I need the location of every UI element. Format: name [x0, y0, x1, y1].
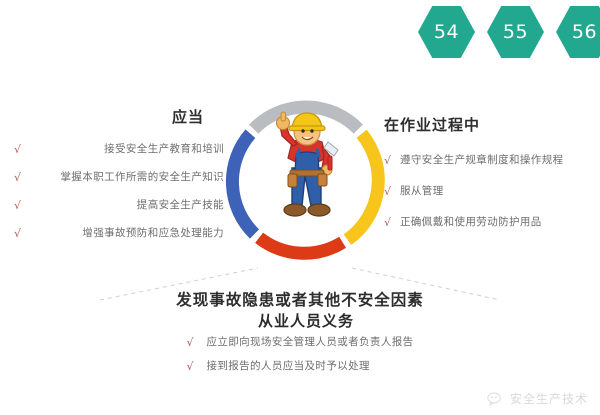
- page-badge-number: 55: [503, 21, 528, 43]
- list-item-label: 正确佩戴和使用劳动防护用品: [400, 217, 542, 228]
- page-badge-54[interactable]: 54: [418, 6, 475, 58]
- watermark-text: 安全生产技术: [510, 390, 588, 407]
- list-item-label: 接受安全生产教育和培训: [28, 144, 228, 155]
- left-block-heading: 应当: [8, 106, 228, 127]
- watermark: 安全生产技术: [487, 390, 588, 407]
- list-item: √ 服从管理: [384, 186, 594, 197]
- list-item-label: 增强事故预防和应急处理能力: [28, 228, 228, 239]
- list-item: √ 接受安全生产教育和培训: [8, 144, 228, 155]
- page-badge-number: 54: [434, 21, 459, 43]
- list-item-label: 接到报告的人员应当及时予以处理: [206, 361, 370, 372]
- page-badge-55[interactable]: 55: [487, 6, 544, 58]
- bottom-text-block: 发现事故隐患或者其他不安全因素 √ 应立即向现场安全管理人员或者负责人报告 √ …: [110, 288, 490, 374]
- check-icon: √: [384, 217, 400, 228]
- bottom-block-heading: 发现事故隐患或者其他不安全因素: [110, 288, 490, 310]
- check-icon: √: [186, 337, 206, 348]
- ring-segment-bottom: [259, 238, 343, 254]
- list-item-label: 应立即向现场安全管理人员或者负责人报告: [206, 337, 413, 348]
- list-item: √ 增强事故预防和应急处理能力: [8, 228, 228, 239]
- right-text-block: 在作业过程中 √ 遵守安全生产规章制度和操作规程 √ 服从管理 √ 正确佩戴和使…: [384, 114, 594, 228]
- bottom-item-list: √ 应立即向现场安全管理人员或者负责人报告 √ 接到报告的人员应当及时予以处理: [186, 324, 413, 372]
- list-item-label: 掌握本职工作所需的安全生产知识: [28, 172, 228, 183]
- page-badge-56[interactable]: 56: [556, 6, 600, 58]
- page-badge-number: 56: [572, 21, 597, 43]
- page-number-badges: 54 55 56: [418, 6, 600, 58]
- construction-worker-illustration: [262, 106, 354, 226]
- check-icon: √: [384, 155, 400, 166]
- list-item: √ 应立即向现场安全管理人员或者负责人报告: [186, 337, 413, 348]
- list-item-label: 遵守安全生产规章制度和操作规程: [400, 155, 564, 166]
- slide-canvas: 54 55 56: [0, 0, 600, 415]
- check-icon: √: [384, 186, 400, 197]
- check-icon: √: [14, 172, 28, 183]
- left-text-block: 应当 √ 接受安全生产教育和培训 √ 掌握本职工作所需的安全生产知识 √ 提高安…: [8, 106, 228, 239]
- list-item: √ 掌握本职工作所需的安全生产知识: [8, 172, 228, 183]
- ring-segment-left: [232, 134, 254, 234]
- chat-bubble-icon: [487, 392, 504, 406]
- list-item: √ 正确佩戴和使用劳动防护用品: [384, 217, 594, 228]
- check-icon: √: [14, 200, 28, 211]
- list-item-label: 提高安全生产技能: [28, 200, 228, 211]
- right-block-heading: 在作业过程中: [384, 114, 594, 135]
- check-icon: √: [14, 228, 28, 239]
- central-donut-diagram: 从业人员义务: [222, 92, 390, 270]
- list-item: √ 遵守安全生产规章制度和操作规程: [384, 155, 594, 166]
- list-item: √ 接到报告的人员应当及时予以处理: [186, 361, 413, 372]
- check-icon: √: [14, 144, 28, 155]
- check-icon: √: [186, 361, 206, 372]
- list-item-label: 服从管理: [400, 186, 444, 197]
- list-item: √ 提高安全生产技能: [8, 200, 228, 211]
